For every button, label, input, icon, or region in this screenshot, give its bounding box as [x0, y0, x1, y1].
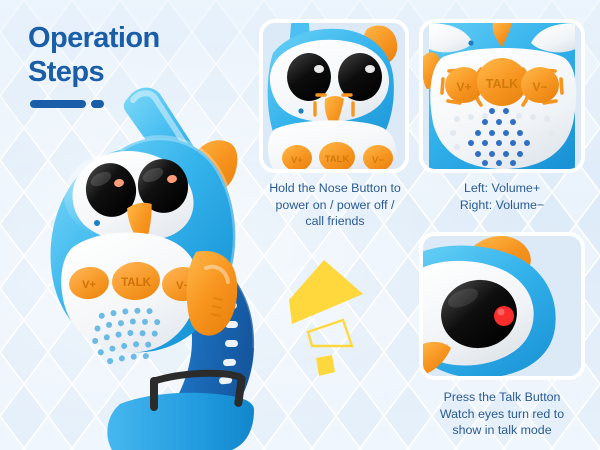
caption-nose-line-3: call friends [252, 213, 418, 230]
caption-nose-line-2: power on / power off / [252, 197, 418, 214]
page-title-block: Operation Steps [28, 22, 160, 108]
volume-closeup-svg: V+ TALK V− [423, 23, 581, 169]
button-talk-label: TALK [121, 277, 152, 289]
caption-nose-button: Hold the Nose Button to power on / power… [252, 180, 418, 230]
panel-volume-buttons-image: V+ TALK V− [423, 23, 581, 169]
svg-text:V−: V− [532, 80, 547, 94]
title-underline-dash [91, 100, 104, 108]
title-underline [30, 100, 160, 108]
svg-text:V+: V+ [456, 80, 471, 94]
caption-volume-line-1: Left: Volume+ [419, 180, 585, 197]
caption-volume-buttons: Left: Volume+ Right: Volume− [419, 180, 585, 213]
panel-volume-buttons: V+ TALK V− [419, 19, 585, 173]
caption-nose-line-1: Hold the Nose Button to [252, 180, 418, 197]
red-eye-closeup-svg [423, 236, 581, 376]
svg-text:V+: V+ [291, 155, 303, 166]
talk-mode-red-led [494, 306, 514, 326]
caption-talk-line-1: Press the Talk Button [419, 389, 585, 406]
indicator-led [94, 220, 100, 226]
caption-talk-line-2: Watch eyes turn red to [419, 406, 585, 423]
caption-talk-button: Press the Talk Button Watch eyes turn re… [419, 389, 585, 439]
button-volume-up-label: V+ [82, 279, 96, 291]
panel-talk-button-image [423, 236, 581, 376]
panel-talk-button [419, 232, 585, 380]
svg-text:TALK: TALK [325, 154, 350, 165]
page-title-line-2: Steps [28, 56, 160, 90]
operation-steps-infographic: Operation Steps [0, 0, 600, 450]
panel-nose-button: V+ TALK V− [259, 19, 409, 173]
svg-text:TALK: TALK [486, 77, 518, 91]
page-title-line-1: Operation [28, 22, 160, 56]
title-underline-bar [30, 100, 86, 108]
caption-volume-line-2: Right: Volume− [419, 197, 585, 214]
svg-text:V−: V− [372, 155, 384, 166]
nose-closeup-svg: V+ TALK V− [263, 23, 405, 169]
panel-nose-button-image: V+ TALK V− [263, 23, 405, 169]
caption-talk-line-3: show in talk mode [419, 422, 585, 439]
